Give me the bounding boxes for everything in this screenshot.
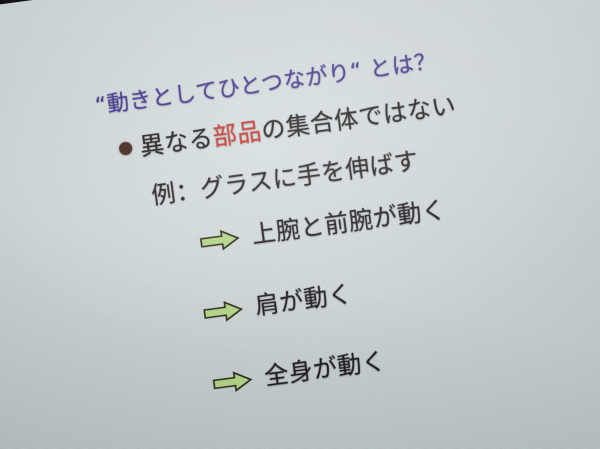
- right-arrow-icon: [199, 227, 242, 254]
- projection-screen-frame: “動きとしてひとつながり“ とは？ 異なる部品の集合体ではない 例：グラスに手を…: [0, 0, 600, 449]
- bullet-highlight-text: 部品: [211, 117, 263, 151]
- slide-step-2: 肩が動く: [201, 274, 354, 329]
- screenshot-root: “動きとしてひとつながり“ とは？ 異なる部品の集合体ではない 例：グラスに手を…: [0, 0, 600, 449]
- step-1-text: 上腕と前腕が動く: [250, 195, 448, 249]
- step-3-text: 全身が動く: [263, 347, 388, 391]
- slide-step-3: 全身が動く: [210, 341, 388, 399]
- example-label: 例：: [150, 176, 202, 210]
- step-2-text: 肩が動く: [253, 279, 354, 320]
- bullet-prefix-text: 異なる: [138, 124, 215, 161]
- bullet-suffix-text: の集合体ではない: [260, 91, 458, 145]
- bullet-dot-icon: [118, 141, 133, 156]
- slide-content: “動きとしてひとつながり“ とは？ 異なる部品の集合体ではない 例：グラスに手を…: [0, 0, 600, 449]
- right-arrow-icon: [212, 368, 255, 395]
- right-arrow-icon: [202, 298, 245, 325]
- example-text: グラスに手を伸ばす: [198, 147, 420, 204]
